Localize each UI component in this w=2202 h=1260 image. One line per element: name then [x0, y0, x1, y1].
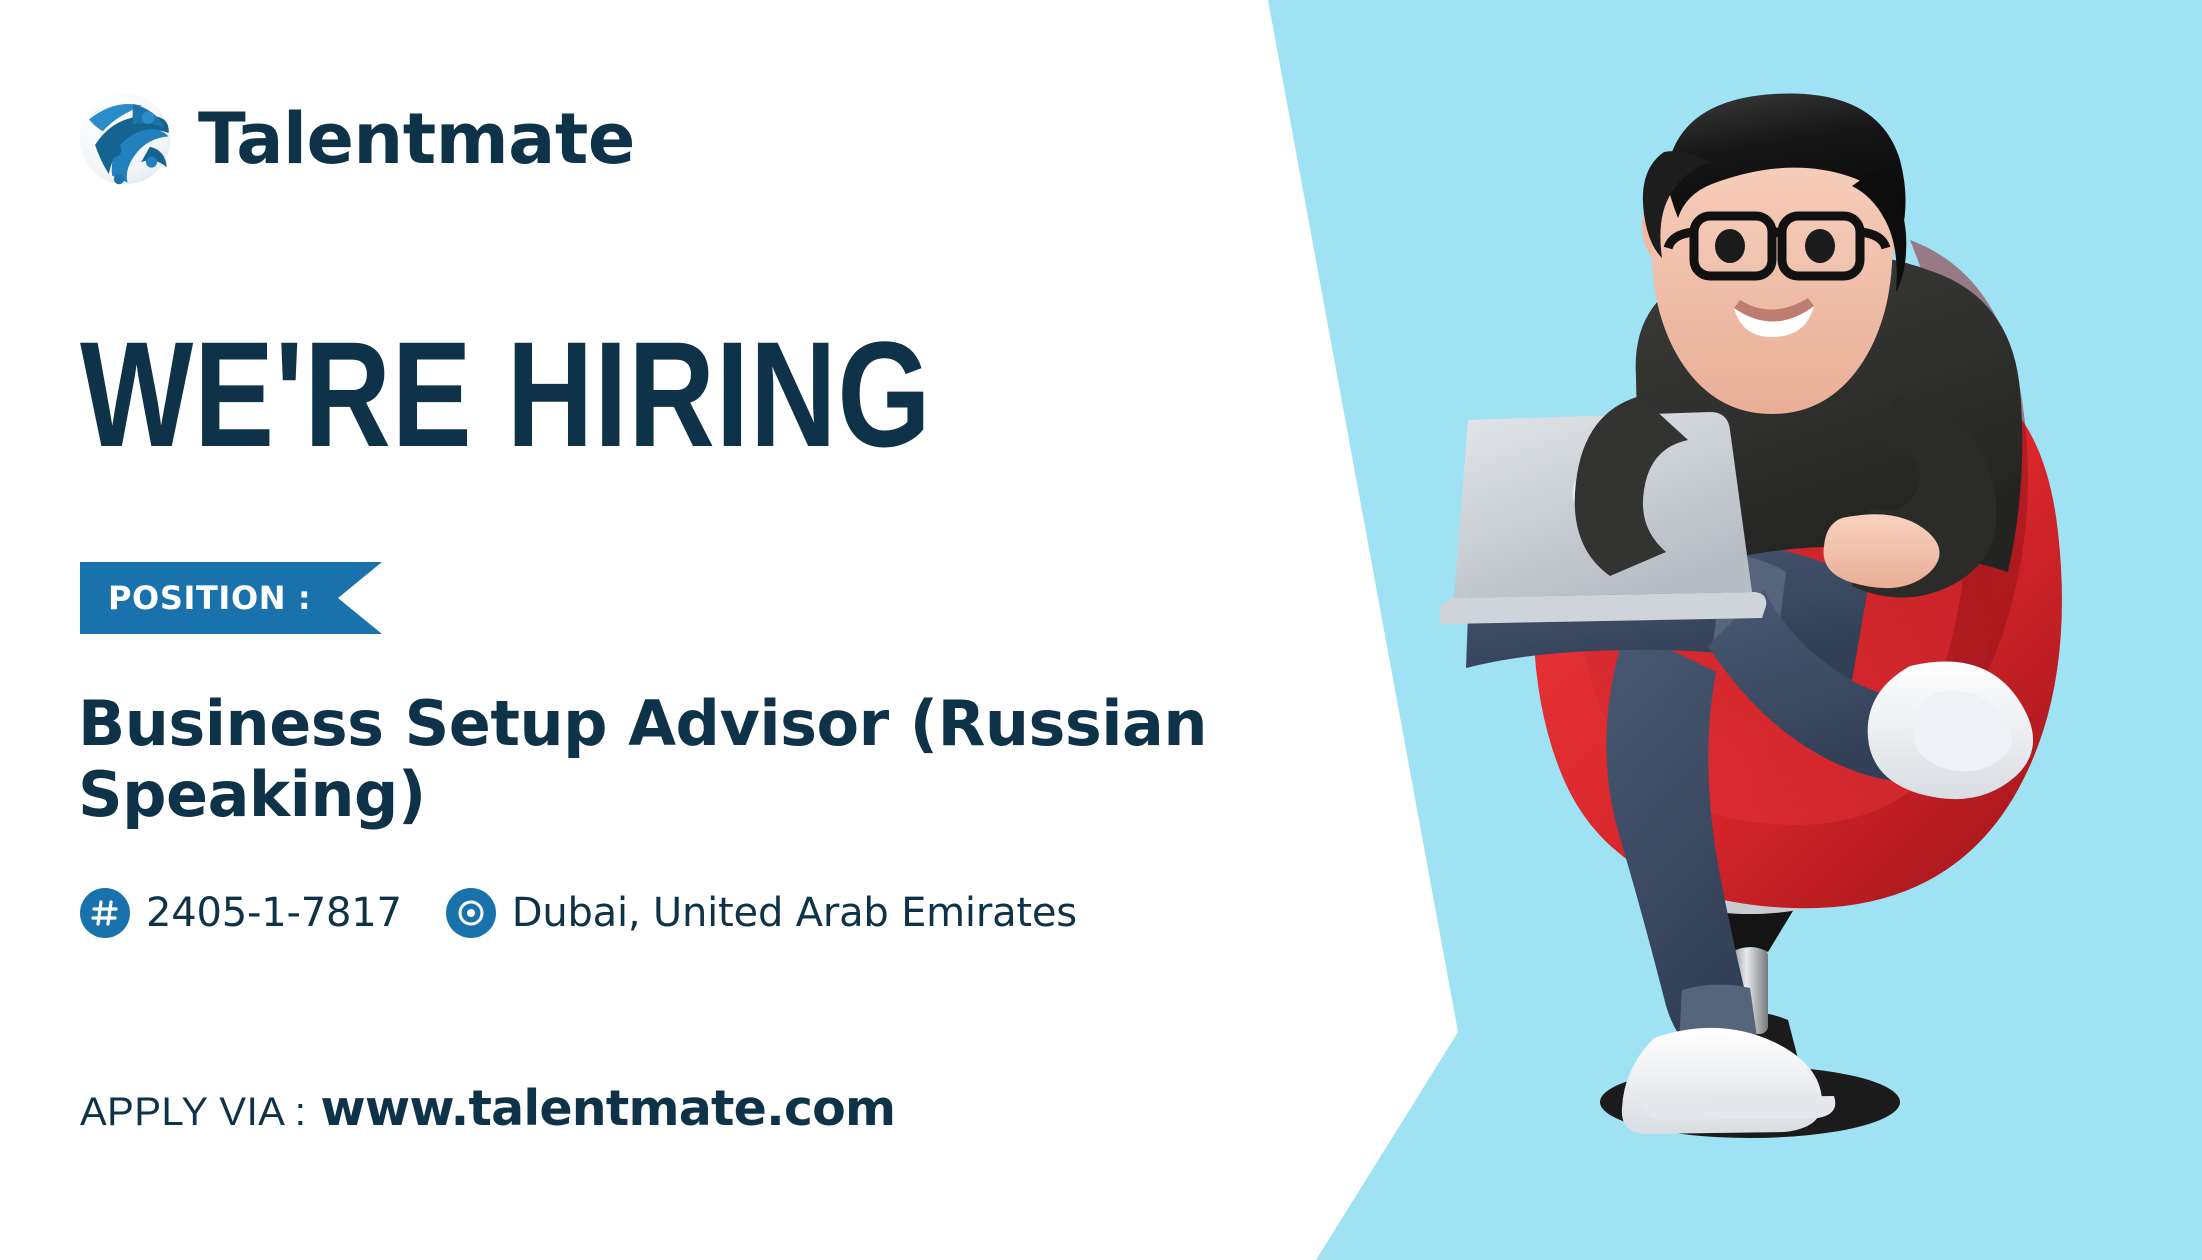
position-ribbon-label: POSITION :	[108, 562, 311, 634]
globe-network-icon	[78, 92, 172, 186]
poster-content: Talentmate WE'RE HIRING POSITION : Busin…	[78, 0, 1258, 1260]
apply-label: APPLY VIA :	[80, 1090, 306, 1135]
location-pin-icon	[446, 888, 496, 938]
job-location-text: Dubai, United Arab Emirates	[512, 890, 1077, 936]
brand-logo: Talentmate	[78, 92, 635, 186]
job-location: Dubai, United Arab Emirates	[446, 888, 1077, 938]
brand-name: Talentmate	[198, 104, 635, 174]
hiring-poster: Talentmate WE'RE HIRING POSITION : Busin…	[0, 0, 2202, 1260]
eye-left	[1715, 229, 1745, 263]
hash-icon	[80, 888, 130, 938]
job-title: Business Setup Advisor (Russian Speaking…	[78, 688, 1338, 831]
page-title: WE'RE HIRING	[80, 322, 931, 466]
job-meta: 2405-1-7817 Dubai, United Arab Emirates	[80, 888, 1077, 938]
job-reference: 2405-1-7817	[80, 888, 402, 938]
character-illustration	[1440, 60, 2160, 1260]
job-reference-id: 2405-1-7817	[146, 890, 402, 936]
apply-line: APPLY VIA : www.talentmate.com	[80, 1080, 895, 1137]
apply-url[interactable]: www.talentmate.com	[320, 1080, 895, 1137]
eye-right	[1805, 229, 1835, 263]
